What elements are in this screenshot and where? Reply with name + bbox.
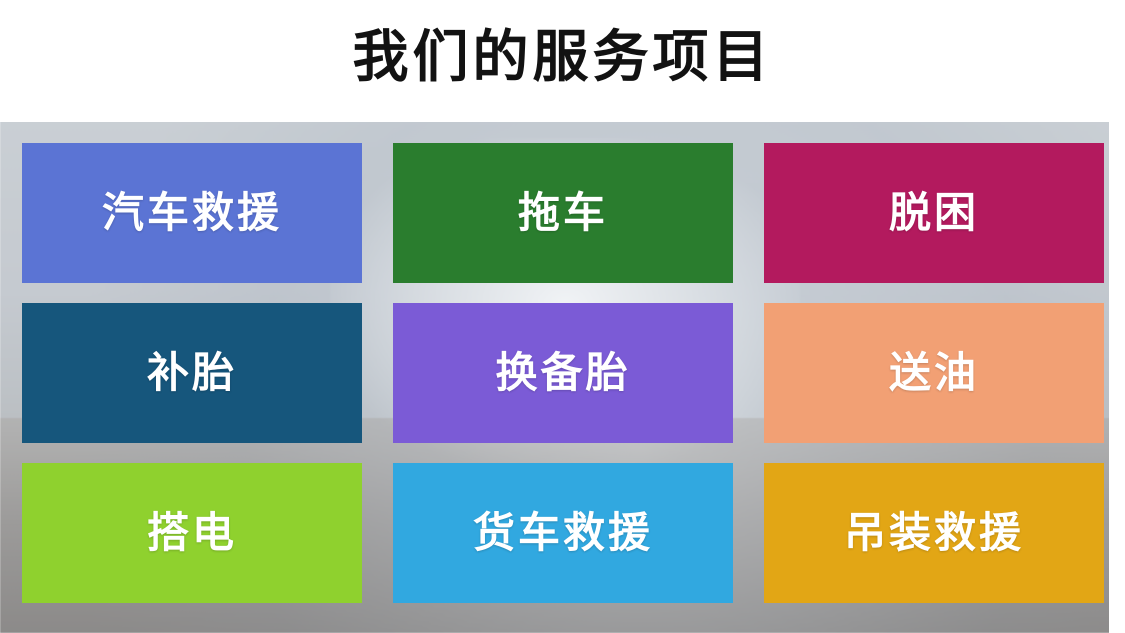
background-right-edge: [1109, 0, 1125, 633]
tile-jump-start[interactable]: 搭电: [22, 463, 362, 603]
tile-tire-repair[interactable]: 补胎: [22, 303, 362, 443]
tile-truck-rescue[interactable]: 货车救援: [393, 463, 733, 603]
tile-extrication[interactable]: 脱困: [764, 143, 1104, 283]
service-tile-grid: 汽车救援 拖车 脱困 补胎 换备胎 送油 搭电 货车救援 吊装救援: [22, 143, 1104, 603]
tile-label: 拖车: [518, 192, 608, 234]
tile-label: 货车救援: [473, 512, 653, 554]
tile-label: 吊装救援: [844, 512, 1024, 554]
tile-label: 汽车救援: [102, 192, 282, 234]
tile-spare-tire[interactable]: 换备胎: [393, 303, 733, 443]
tile-label: 换备胎: [495, 352, 630, 394]
tile-crane-rescue[interactable]: 吊装救援: [764, 463, 1104, 603]
tile-label: 脱困: [889, 192, 979, 234]
tile-towing[interactable]: 拖车: [393, 143, 733, 283]
tile-car-rescue[interactable]: 汽车救援: [22, 143, 362, 283]
service-poster: 我们的服务项目 汽车救援 拖车 脱困 补胎 换备胎 送油 搭电 货车救援 吊装救…: [0, 0, 1125, 633]
tile-fuel-delivery[interactable]: 送油: [764, 303, 1104, 443]
tile-label: 送油: [889, 352, 979, 394]
page-title: 我们的服务项目: [0, 22, 1125, 92]
tile-label: 搭电: [147, 512, 237, 554]
tile-label: 补胎: [147, 352, 237, 394]
